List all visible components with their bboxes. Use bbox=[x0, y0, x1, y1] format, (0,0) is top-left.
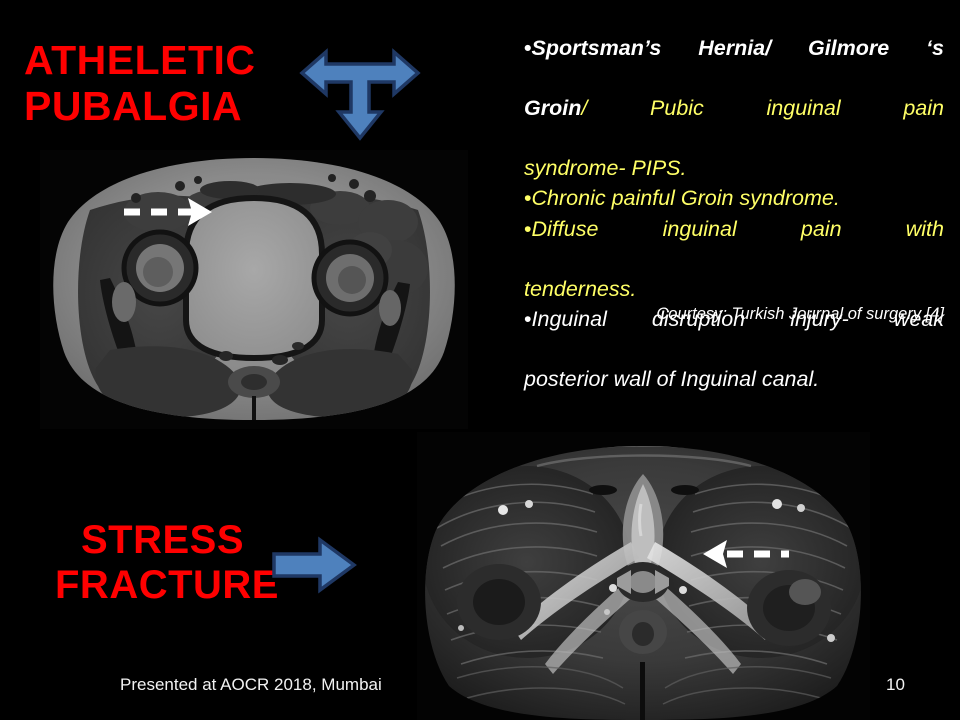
axial-stir-pelvis-mri-image bbox=[417, 432, 870, 720]
bullet-marker: • bbox=[524, 186, 532, 210]
axial-t1-pelvis-mri-image bbox=[40, 150, 468, 429]
bullet-1-line3: syndrome- PIPS. bbox=[524, 156, 687, 180]
page-title-athletic-pubalgia: ATHELETIC PUBALGIA bbox=[24, 38, 256, 130]
left-right-down-arrow-icon bbox=[296, 42, 424, 160]
slide-canvas: ATHELETIC PUBALGIA bbox=[0, 0, 960, 720]
bullet-1-line2-white: Groin bbox=[524, 96, 581, 120]
bullet-item-2: •Chronic painful Groin syndrome. bbox=[524, 183, 944, 213]
bullet-1-line1: Sportsman’s Hernia/ Gilmore ‘s bbox=[532, 36, 944, 60]
footer-presented-at: Presented at AOCR 2018, Mumbai bbox=[120, 675, 382, 695]
courtesy-credit: Courtesy: Turkish Journal of surgery [4] bbox=[524, 305, 944, 324]
footer-page-number: 10 bbox=[886, 675, 905, 695]
bullet-4-line2: posterior wall of Inguinal canal. bbox=[524, 367, 819, 391]
bullet-text-block: •Sportsman’s Hernia/ Gilmore ‘s Groin/ P… bbox=[524, 33, 944, 394]
right-arrow-icon bbox=[268, 534, 360, 596]
bullet-2-line1: Chronic painful Groin syndrome. bbox=[532, 186, 840, 210]
bullet-marker: • bbox=[524, 217, 532, 241]
section-title-stress-fracture: STRESS FRACTURE bbox=[55, 518, 270, 608]
bullet-1-line2-yellow: / Pubic inguinal pain bbox=[581, 96, 944, 120]
bullet-marker: • bbox=[524, 36, 532, 60]
bullet-item-1: •Sportsman’s Hernia/ Gilmore ‘s Groin/ P… bbox=[524, 33, 944, 183]
bullet-3-line1: Diffuse inguinal pain with bbox=[532, 217, 944, 241]
bullet-item-3: •Diffuse inguinal pain with tenderness. bbox=[524, 214, 944, 304]
bullet-3-line2: tenderness. bbox=[524, 277, 636, 301]
